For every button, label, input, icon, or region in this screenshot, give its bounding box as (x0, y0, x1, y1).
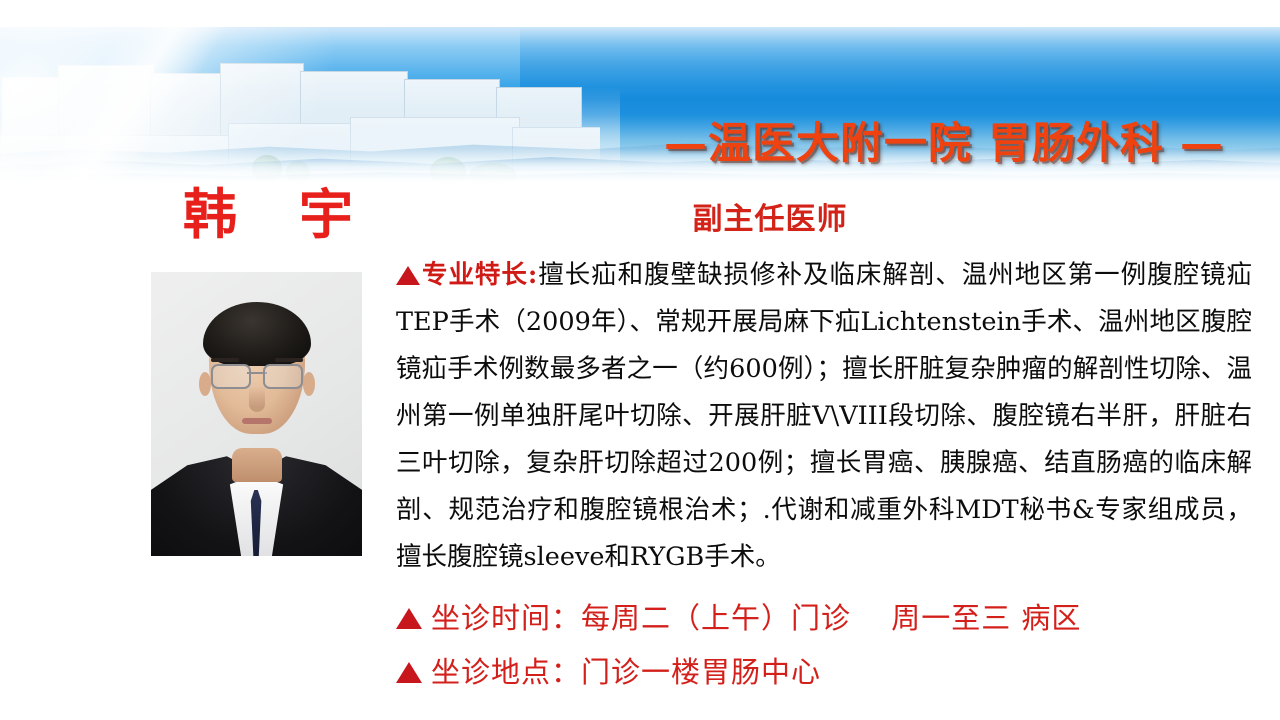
triangle-bullet-icon (396, 608, 422, 629)
portrait-ear-left (199, 372, 211, 396)
doctor-name: 韩 宇 (150, 184, 390, 244)
portrait-nose (249, 386, 265, 412)
portrait-mouth (242, 418, 272, 424)
banner-title: —温医大附一院 胃肠外科 — (0, 109, 1280, 171)
clinic-time-row: 坐诊时间：每周二（上午）门诊 周一至三 病区 (396, 598, 1081, 638)
triangle-bullet-icon (396, 662, 422, 683)
portrait-ear-right (303, 372, 315, 396)
doctor-job-title: 副主任医师 (560, 194, 980, 238)
portrait-eyebrow-left (211, 358, 239, 362)
eyeglass-lens-right (263, 364, 303, 389)
specialty-body: 擅长疝和腹壁缺损修补及临床解剖、温州地区第一例腹腔镜疝TEP手术（2009年）、… (396, 260, 1252, 572)
doctor-portrait-photo (151, 272, 362, 556)
specialty-label: 专业特长: (421, 260, 537, 290)
clinic-place-text: 坐诊地点：门诊一楼胃肠中心 (431, 652, 821, 692)
header-banner: —温医大附一院 胃肠外科 — (0, 27, 1280, 183)
specialty-paragraph: 专业特长:擅长疝和腹壁缺损修补及临床解剖、温州地区第一例腹腔镜疝TEP手术（20… (396, 252, 1252, 581)
portrait-neck (232, 448, 282, 482)
portrait-eyebrow-right (275, 358, 303, 362)
eyeglass-lens-left (211, 364, 251, 389)
triangle-bullet-icon (396, 266, 420, 285)
doctor-profile-slide: —温医大附一院 胃肠外科 — 韩 宇 副主任医师 专业特长:擅长疝和腹壁缺损修补… (0, 0, 1280, 720)
clinic-place-row: 坐诊地点：门诊一楼胃肠中心 (396, 652, 821, 692)
portrait-eyeglasses (211, 364, 303, 386)
clinic-time-text: 坐诊时间：每周二（上午）门诊 周一至三 病区 (431, 598, 1081, 638)
